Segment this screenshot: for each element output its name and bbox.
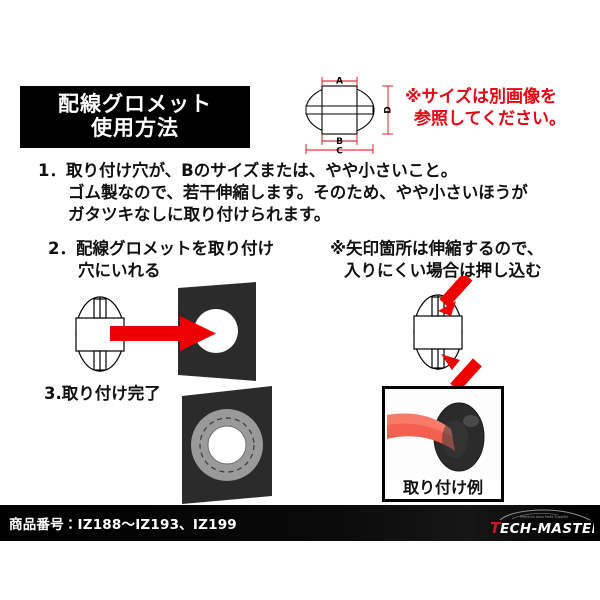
footer-bar: 商品番号：IZ188～IZ193、IZ199 Premium Auto Part… (0, 505, 600, 541)
step-1-line-2: ゴム製なので、若干伸縮します。そのため、やや小さいほうが (38, 182, 586, 204)
step-2-number: 2． (48, 239, 76, 258)
size-note-line-2: 参照してください。 (405, 109, 595, 131)
stretch-arrow-bottom-icon (441, 354, 482, 388)
dim-label-c: C (336, 147, 343, 157)
step-2-line-1: 配線グロメットを取り付け (76, 239, 274, 258)
stretch-note-line-1: ※矢印箇所は伸縮するので、 (330, 239, 543, 258)
step-1-number: 1． (38, 161, 66, 180)
dim-label-b: B (336, 137, 343, 147)
page-title-line-2: 使用方法 (91, 117, 179, 141)
instruction-graphic: 配線グロメット 使用方法 A B C D ※ (0, 0, 600, 600)
dimension-drawing: A B C D (296, 72, 400, 156)
step-3-text: 3.取り付け完了 (44, 380, 161, 404)
step-1-text: 1．取り付け穴が、Bのサイズまたは、やや小さいこと。 ゴム製なので、若干伸縮しま… (38, 160, 586, 226)
step-2-line-2: 穴にいれる (48, 260, 274, 282)
tech-master-logo: Premium Auto Parts Supplier T ECH-MASTER (482, 507, 594, 539)
size-reference-note: ※サイズは別画像を 参照してください。 (405, 87, 595, 131)
logo-wordmark: ECH-MASTER (500, 521, 594, 537)
dim-label-a: A (336, 77, 343, 87)
installation-example-photo: 取り付け例 (382, 386, 504, 502)
step-2-illustration (70, 282, 320, 387)
dim-label-d: D (384, 106, 394, 113)
logo-tagline: Premium Auto Parts Supplier (520, 515, 569, 519)
page-title: 配線グロメット 使用方法 (20, 86, 250, 148)
page-title-line-1: 配線グロメット (58, 93, 212, 117)
step-1-line-3: ガタツキなしに取り付けられます。 (38, 204, 586, 226)
grommet-hole (208, 426, 246, 464)
photo-caption: 取り付け例 (385, 479, 501, 498)
size-note-line-1: ※サイズは別画像を (405, 87, 557, 107)
stretch-points-illustration (378, 276, 528, 388)
product-number: 商品番号：IZ188～IZ193、IZ199 (9, 513, 237, 533)
step-3-illustration (176, 386, 296, 504)
step-1-line-1: 取り付け穴が、Bのサイズまたは、やや小さいこと。 (66, 161, 457, 180)
step-2-text: 2．配線グロメットを取り付け 穴にいれる (48, 238, 274, 282)
